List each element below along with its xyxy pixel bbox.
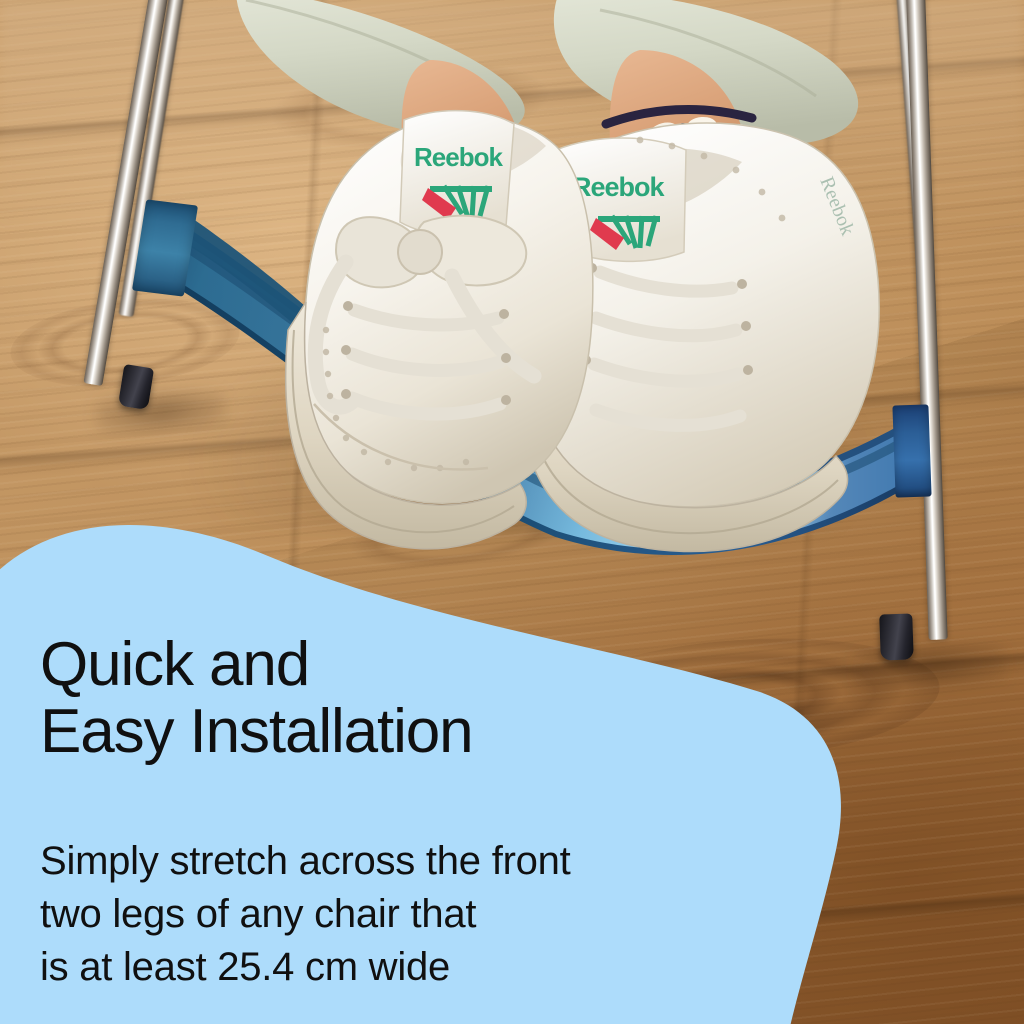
page-title: Quick and Easy Installation: [40, 632, 473, 766]
marketing-image-canvas: Reebok Reebok: [0, 0, 1024, 1024]
reebok-wordmark: Reebok: [414, 142, 503, 172]
panel-description: Simply stretch across the front two legs…: [40, 835, 571, 995]
reebok-wordmark: Reebok: [572, 172, 666, 202]
